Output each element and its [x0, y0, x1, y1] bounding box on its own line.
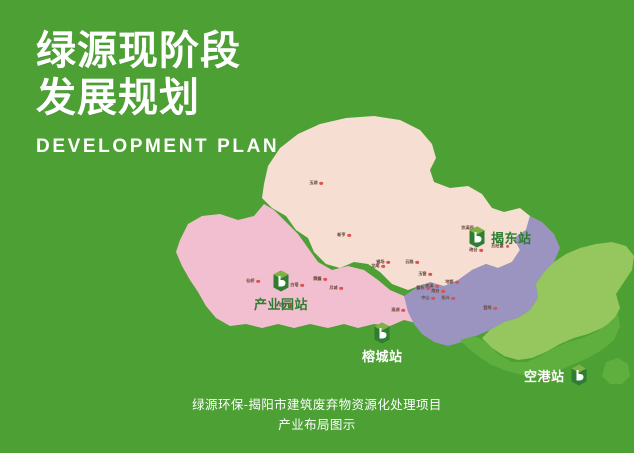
- caption-line-2: 产业布局图示: [0, 415, 634, 435]
- greenland-logo-icon: [373, 322, 391, 344]
- city-name-label: 月城: [329, 286, 337, 290]
- city-dot-icon: [494, 306, 497, 309]
- city-dot-icon: [348, 233, 351, 236]
- subtitle-development-plan: DEVELOPMENT PLAN: [36, 136, 279, 158]
- city-dot-icon: [442, 289, 445, 292]
- city-name-label: 云路: [405, 260, 413, 264]
- greenland-logo-icon: [272, 270, 290, 292]
- greenland-logo-icon: [468, 226, 486, 248]
- city-name-label: 新亨: [337, 233, 345, 237]
- city-marker: 砲台: [469, 248, 483, 252]
- city-marker: 新亨: [337, 233, 351, 237]
- city-marker: 月城: [329, 286, 343, 290]
- city-marker: 东兴: [441, 296, 455, 300]
- city-marker: 玉窖: [418, 272, 432, 276]
- city-marker: 炮台: [431, 289, 445, 293]
- city-name-label: 玉湖: [309, 181, 317, 185]
- station-marker-industrial-park[interactable]: 产业园站: [254, 270, 308, 313]
- title-block: 绿源现阶段 发展规划 DEVELOPMENT PLAN: [36, 28, 279, 158]
- caption-line-1: 绿源环保-揭阳市建筑废弃物资源化处理项目: [0, 395, 634, 415]
- station-marker-jiedong[interactable]: 揭东站: [468, 226, 532, 248]
- city-name-label: 地都: [445, 280, 453, 284]
- city-name-label: 砲台: [469, 248, 477, 252]
- city-marker: 玉湖: [309, 181, 323, 185]
- city-name-label: 玉窖: [418, 272, 426, 276]
- station-label-industrial-park: 产业园站: [254, 294, 308, 313]
- poster-canvas: 玉湖新亨锡场龙尾白塔霖磐月城云路玉窖曲溪地都炮台磐东中山东兴渔湖仙桥龙砂登岗京溪…: [0, 0, 634, 453]
- city-marker: 地都: [445, 280, 459, 284]
- city-name-label: 渔湖: [391, 308, 399, 312]
- city-dot-icon: [320, 181, 323, 184]
- city-name-label: 登岗: [483, 306, 491, 310]
- city-name-label: 中山: [421, 296, 429, 300]
- city-marker: 登岗: [483, 306, 497, 310]
- city-dot-icon: [456, 280, 459, 283]
- city-name-label: 磐东: [416, 286, 424, 290]
- city-dot-icon: [340, 286, 343, 289]
- city-dot-icon: [402, 308, 405, 311]
- city-dot-icon: [452, 296, 455, 299]
- map-region-southeast-tip: [602, 358, 630, 384]
- city-name-label: 霖磐: [313, 277, 321, 281]
- city-dot-icon: [427, 286, 430, 289]
- city-dot-icon: [387, 260, 390, 263]
- title-line-1: 绿源现阶段: [36, 28, 279, 75]
- city-marker: 中山: [421, 296, 435, 300]
- station-label-rongcheng: 榕城站: [362, 346, 403, 365]
- city-marker: 云路: [405, 260, 419, 264]
- greenland-logo-icon: [570, 364, 588, 386]
- caption-block: 绿源环保-揭阳市建筑废弃物资源化处理项目 产业布局图示: [0, 395, 634, 435]
- station-label-jiedong: 揭东站: [491, 228, 532, 247]
- city-dot-icon: [432, 296, 435, 299]
- station-marker-rongcheng[interactable]: 榕城站: [362, 322, 403, 365]
- city-dot-icon: [429, 272, 432, 275]
- city-dot-icon: [382, 264, 385, 267]
- city-marker: 霖磐: [313, 277, 327, 281]
- station-label-airport: 空港站: [524, 366, 565, 385]
- city-dot-icon: [324, 277, 327, 280]
- city-marker: 磐东: [416, 286, 430, 290]
- city-name-label: 炮台: [431, 289, 439, 293]
- station-marker-airport[interactable]: 空港站: [524, 364, 588, 386]
- city-marker: 龙尾: [371, 264, 385, 268]
- city-name-label: 东兴: [441, 296, 449, 300]
- city-marker: 渔湖: [391, 308, 405, 312]
- city-name-label: 龙尾: [371, 264, 379, 268]
- title-line-2: 发展规划: [36, 75, 279, 122]
- city-dot-icon: [480, 248, 483, 251]
- city-dot-icon: [416, 260, 419, 263]
